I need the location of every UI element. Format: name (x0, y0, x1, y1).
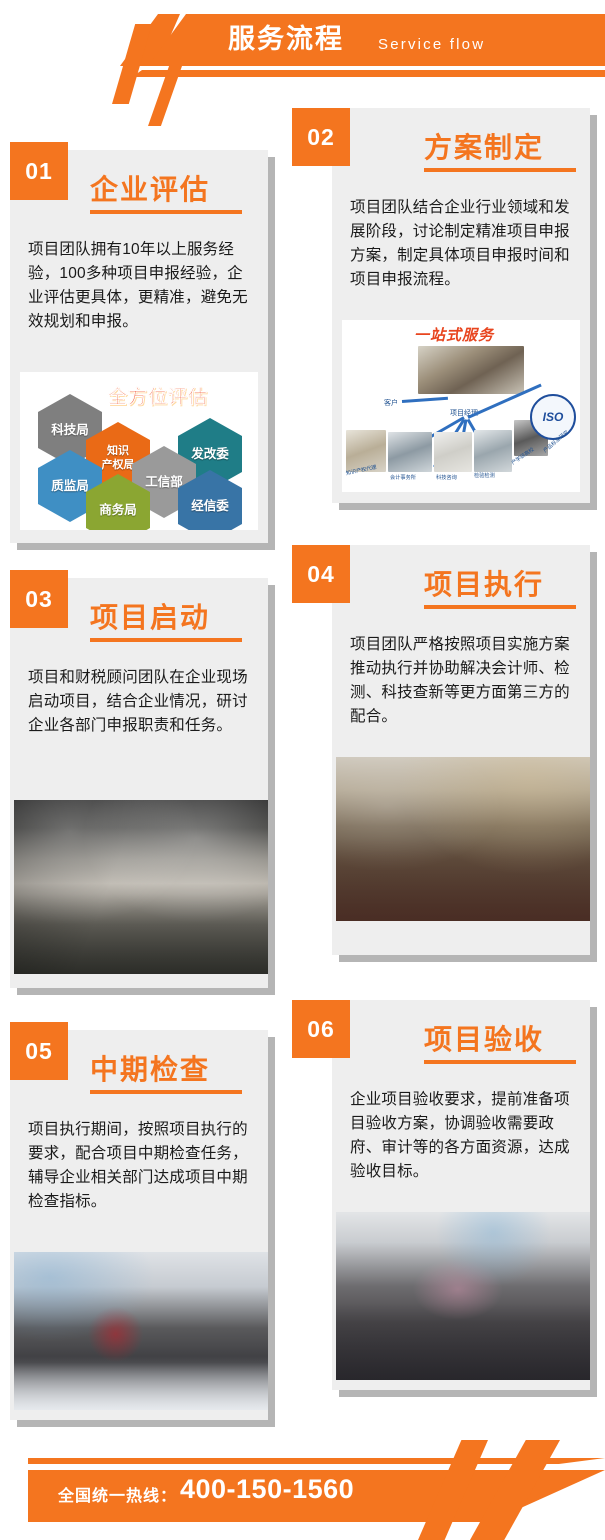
hotline-number[interactable]: 400-150-1560 (180, 1474, 354, 1505)
process-card-03[interactable]: 03 项目启动 项目和财税顾问团队在企业现场启动项目，结合企业情况，研讨企业各部… (10, 578, 268, 988)
one-stop-leaf-accounting: 会计事务所 (390, 474, 416, 481)
one-stop-arrow-1 (402, 397, 448, 403)
card-title-rule-06 (424, 1060, 576, 1064)
page-header: 服务流程 Service flow (0, 0, 605, 104)
one-stop-leaf-consulting: 科技咨询 (436, 474, 457, 481)
header-banner (148, 14, 605, 66)
one-stop-thumb-accounting (388, 432, 432, 472)
page-subtitle: Service flow (378, 30, 485, 60)
card-shadow-bottom (339, 503, 597, 510)
process-card-02[interactable]: 02 方案制定 项目团队结合企业行业领域和发展阶段，讨论制定精准项目申报方案，制… (332, 108, 590, 503)
photo-working-session (336, 757, 590, 921)
card-body-02: 项目团队结合企业行业领域和发展阶段，讨论制定精准项目申报方案，制定具体项目申报时… (350, 196, 572, 292)
one-stop-node-customer: 客户 (384, 398, 398, 408)
card-shadow-right (268, 585, 275, 988)
one-stop-thumb-testing (474, 430, 512, 472)
process-card-05[interactable]: 05 中期检查 项目执行期间，按照项目执行的要求，配合项目中期检查任务，辅导企业… (10, 1030, 268, 1420)
photo-overlay (14, 1252, 268, 1410)
process-card-01[interactable]: 01 企业评估 项目团队拥有10年以上服务经验，100多种项目申报经验，企业评估… (10, 150, 268, 543)
photo-overlay (336, 757, 590, 921)
card-shadow-bottom (339, 955, 597, 962)
card-title-06: 项目验收 (424, 1018, 544, 1058)
card-shadow-bottom (339, 1390, 597, 1397)
photo-overlay (336, 1212, 590, 1380)
card-number-badge-03: 03 (10, 570, 68, 628)
card-shadow-right (590, 552, 597, 955)
page-title: 服务流程 (228, 20, 344, 58)
card-title-04: 项目执行 (424, 563, 544, 603)
card-number-badge-04: 04 (292, 545, 350, 603)
card-number-badge-01: 01 (10, 142, 68, 200)
card-shadow-right (590, 1007, 597, 1390)
process-card-06[interactable]: 06 项目验收 企业项目验收要求，提前准备项目验收方案，协调验收需要政府、审计等… (332, 1000, 590, 1390)
card-shadow-right (590, 115, 597, 503)
card-shadow-bottom (17, 543, 275, 550)
photo-overlay (14, 800, 268, 974)
card-title-rule-05 (90, 1090, 242, 1094)
card-number-badge-02: 02 (292, 108, 350, 166)
card-title-02: 方案制定 (424, 126, 544, 166)
one-stop-thumb-consulting (434, 432, 472, 472)
card-body-01: 项目团队拥有10年以上服务经验，100多种项目申报经验，企业评估更具体，更精准，… (28, 238, 250, 334)
card-shadow-bottom (17, 988, 275, 995)
header-underline (162, 70, 605, 77)
photo-acceptance-meeting (336, 1212, 590, 1380)
card-shadow-right (268, 157, 275, 543)
card-title-05: 中期检查 (90, 1048, 210, 1088)
one-stop-hero-photo (418, 346, 524, 394)
page-footer: 全国统一热线： 400-150-1560 (0, 1418, 605, 1538)
card-title-rule-03 (90, 638, 242, 642)
card-title-rule-01 (90, 210, 242, 214)
process-card-04[interactable]: 04 项目执行 项目团队严格按照项目实施方案推动执行并协助解决会计师、检测、科技… (332, 545, 590, 955)
card-title-03: 项目启动 (90, 596, 210, 636)
one-stop-service-diagram: 一站式服务 客户 项目经理 ISO 知识产权代理 会计事务所 科技咨询 检验检测… (342, 320, 580, 492)
one-stop-title: 一站式服务 (414, 324, 494, 345)
card-number-badge-05: 05 (10, 1022, 68, 1080)
hex-diagram-title: 全方位评估 (108, 382, 208, 409)
card-title-rule-02 (424, 168, 576, 172)
hotline-label: 全国统一热线： (58, 1482, 177, 1506)
card-body-03: 项目和财税顾问团队在企业现场启动项目，结合企业情况，研讨企业各部门申报职责和任务… (28, 666, 250, 738)
card-number-badge-06: 06 (292, 1000, 350, 1058)
card-body-04: 项目团队严格按照项目实施方案推动执行并协助解决会计师、检测、科技查新等更方面第三… (350, 633, 572, 729)
card-title-rule-04 (424, 605, 576, 609)
card-body-05: 项目执行期间，按照项目执行的要求，配合项目中期检查任务，辅导企业相关部门达成项目… (28, 1118, 250, 1214)
hex-assessment-diagram: 全方位评估 科技局 知识产权局 发改委 质监局 工信部 商务局 经信委 (20, 372, 258, 530)
photo-site-visit (14, 1252, 268, 1410)
card-shadow-right (268, 1037, 275, 1420)
photo-meeting-room (14, 800, 268, 974)
card-body-06: 企业项目验收要求，提前准备项目验收方案，协调验收需要政府、审计等的各方面资源，达… (350, 1088, 572, 1184)
card-title-01: 企业评估 (90, 168, 210, 208)
one-stop-leaf-testing: 检验检测 (474, 472, 495, 479)
